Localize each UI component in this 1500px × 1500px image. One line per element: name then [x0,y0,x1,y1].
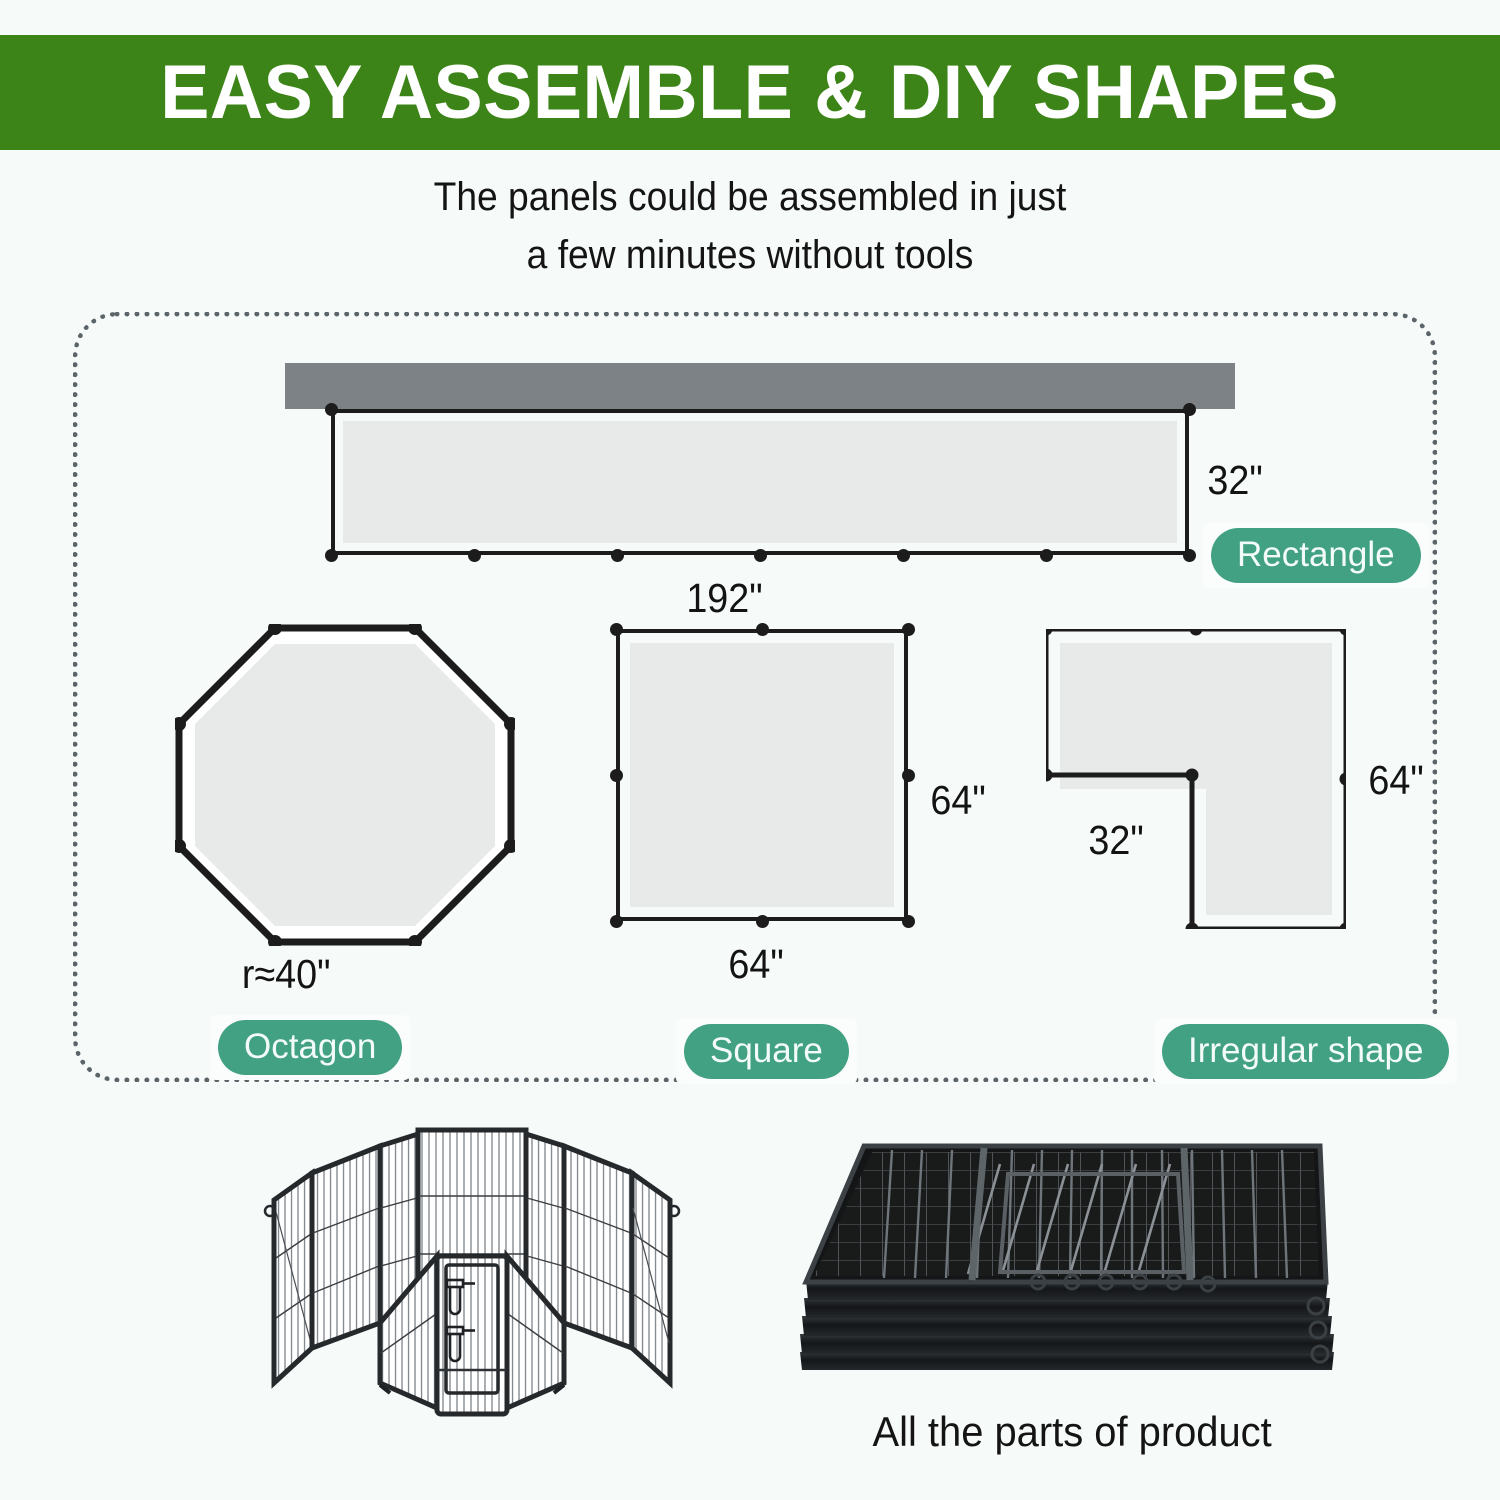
badge-rectangle[interactable]: Rectangle [1211,528,1421,583]
joint-dot [754,549,767,562]
rectangle-badge-wrap: Rectangle [1203,523,1429,588]
subtitle-line-2: a few minutes without tools [53,226,1448,284]
joint-dot [610,623,623,636]
joint-dot [611,549,624,562]
playpen-panel [312,1146,380,1348]
joint-dot [1040,549,1053,562]
joint-dot [756,915,769,928]
square-height-dimension: 64" [930,777,985,824]
shapes-panel: 32" 192" Rectangle [73,312,1437,1082]
square-outline [616,629,908,921]
playpen-panel [564,1146,632,1348]
playpen-panel [632,1173,670,1383]
banner-title: EASY ASSEMBLE & DIY SHAPES [161,55,1340,131]
joint-dot [902,769,915,782]
octagon-drawing [175,624,515,946]
parts-caption: All the parts of product [772,1408,1372,1456]
subtitle-block: The panels could be assembled in just a … [0,168,1500,284]
rectangle-width-dimension: 192" [686,575,762,622]
rectangle-top-panel-bar [285,363,1235,409]
parts-caption-text: All the parts of product [872,1408,1271,1456]
irregular-drawing [1046,629,1346,929]
square-badge-wrap: Square [676,1019,857,1084]
stack-layer [800,1280,1334,1370]
irregular-badge-wrap: Irregular shape [1154,1019,1457,1084]
badge-octagon[interactable]: Octagon [218,1020,402,1075]
playpen-photo [232,1108,712,1443]
joint-dot [902,623,915,636]
subtitle-line-1: The panels could be assembled in just [53,168,1448,226]
joint-dot [468,549,481,562]
joint-dot [1183,549,1196,562]
badge-irregular-shape[interactable]: Irregular shape [1162,1024,1449,1079]
rectangle-height-dimension: 32" [1207,457,1262,504]
square-width-dimension: 64" [728,941,783,988]
rectangle-outline [331,409,1189,555]
joint-dot [325,549,338,562]
header-banner: EASY ASSEMBLE & DIY SHAPES [0,35,1500,150]
joint-dot [610,915,623,928]
joint-dot [610,769,623,782]
folded-stack-photo [772,1134,1372,1414]
joint-dot [1183,403,1196,416]
irregular-notch-dimension: 32" [1088,817,1143,864]
badge-square[interactable]: Square [684,1024,849,1079]
irregular-height-dimension: 64" [1368,757,1423,804]
infographic-page: EASY ASSEMBLE & DIY SHAPES The panels co… [0,0,1500,1500]
joint-dot [897,549,910,562]
octagon-radius-dimension: r≈40" [242,951,331,998]
joint-dot [325,403,338,416]
playpen-panel [274,1173,312,1383]
joint-dot [902,915,915,928]
octagon-badge-wrap: Octagon [210,1015,410,1080]
joint-dot [756,623,769,636]
